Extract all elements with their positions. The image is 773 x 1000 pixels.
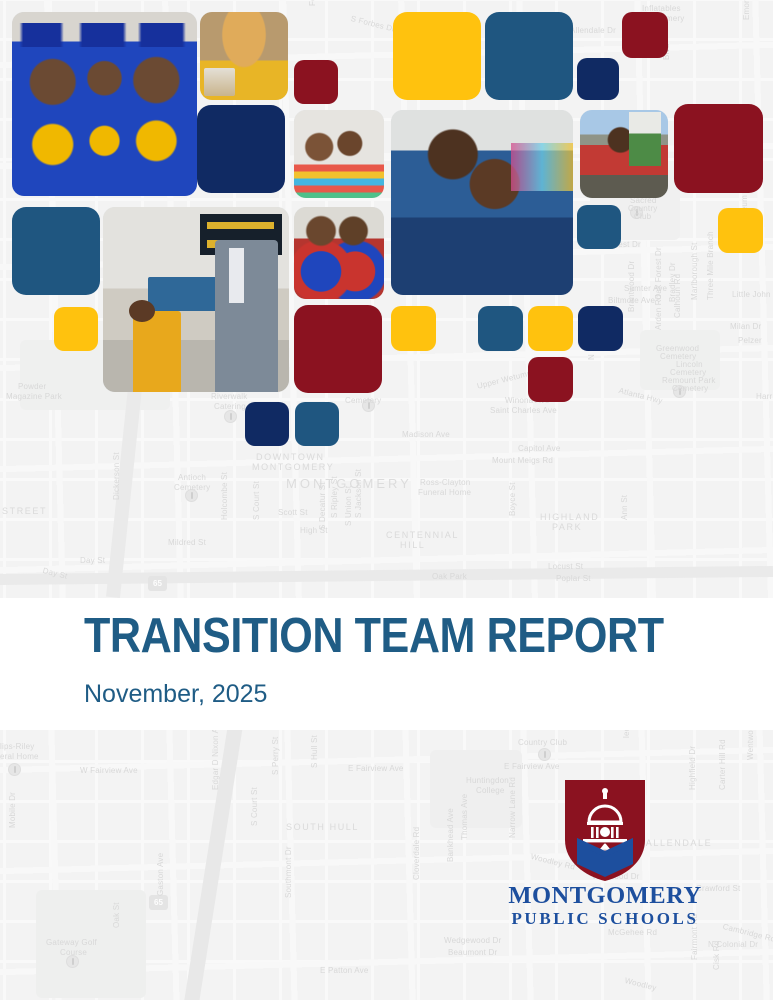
shield-icon [563,778,647,883]
map-label: S Hull St [310,735,319,768]
photo-cowboy-hat-boy [200,12,288,100]
map-label: Holcombe St [220,472,229,520]
map-label: Wentworth Dr [746,730,755,760]
map-poi-pin-country-club [538,748,551,761]
map-label: Day St [80,556,105,565]
map-label: Boyce St [508,482,517,516]
title-band: TRANSITION TEAM REPORT November, 2025 [0,598,773,730]
map-label: E Fairview Ave [504,762,560,771]
map-label: S Perry St [271,737,280,775]
tile-teal-4 [478,306,523,351]
tile-gold-3 [54,307,98,351]
logo-subtitle: PUBLIC SCHOOLS [500,909,710,929]
tile-maroon-2 [294,60,338,104]
map-label: Gaston Ave [156,853,165,896]
map-label: Southmont Dr [284,846,293,898]
tile-navy-3 [578,306,623,351]
photo-spiderman-kid [580,110,668,198]
map-label: Ross-Clayton [420,478,470,487]
map-label: S Jackson St [354,469,363,518]
map-label: Funeral Home [418,488,471,497]
map-label: Wedgewood Dr [444,936,501,945]
map-label: HILL [400,540,425,550]
tile-navy-4 [245,402,289,446]
logo-name: MONTGOMERY [500,882,710,910]
map-label: W Fairview Ave [80,766,138,775]
tile-gold-5 [528,306,573,351]
tile-teal-5 [295,402,339,446]
map-label: E Patton Ave [320,966,369,975]
map-label: Scott St [278,508,308,517]
tile-gold-4 [391,306,436,351]
map-label: Country Club [518,738,567,747]
map-interstate-shield: 65 [148,576,167,591]
map-label: Oak St [112,902,121,928]
map-label: Mildred St [168,538,206,547]
map-label: Cisk Rd [712,941,721,970]
map-poi-pin-funeral-home [8,763,21,776]
map-label: S Court St [250,787,259,826]
map-label: HIGHLAND [540,512,599,522]
photo-tiedye-kids [294,207,384,299]
map-label: Bankhead Ave [446,808,455,862]
tile-maroon-5 [528,357,573,402]
tile-maroon-4 [294,305,382,393]
map-label: lips-Riley [0,742,34,751]
map-label: ledge Dr [622,730,631,738]
report-cover-page: 65 Ferry RdS Forbes DrInflatablesMontgom… [0,0,773,1000]
map-label: S Court St [252,481,261,520]
tile-maroon-1 [622,12,668,58]
tile-teal-3 [577,205,621,249]
photo-principal-handshake [103,207,289,392]
map-label: S Union St [344,486,353,526]
map-label: Cloverdale Rd [412,827,421,880]
map-interstate-shield: 65 [149,895,168,910]
tile-navy-1 [577,58,619,100]
map-label: Edgar D Nixon Ave [211,730,220,790]
tile-navy-2 [197,105,285,193]
cover-photo-collage [0,0,773,460]
map-label: S Decatur St [318,482,327,530]
map-label: STREET [2,506,47,516]
map-label: Thomas Ave [460,794,469,840]
map-label: S Ripley St [330,476,339,518]
map-label: eral Home [0,752,39,761]
tile-teal-1 [485,12,573,100]
map-label: CENTENNIAL [386,530,459,540]
map-label: SOUTH HULL [286,822,359,832]
tile-gold-2 [718,208,763,253]
map-label: MONTGOMERY [252,462,334,472]
map-label: Cemetery [174,483,210,492]
map-label: Locust St [548,562,583,571]
map-label: Beaumont Dr [448,948,497,957]
montgomery-public-schools-logo: MONTGOMERY PUBLIC SCHOOLS [500,778,710,923]
photo-graduates [12,12,197,196]
map-label: E Fairview Ave [348,764,404,773]
tile-gold-1 [393,12,481,100]
map-label: Oak Park [432,572,467,581]
map-label: Mobile Dr [8,792,17,828]
map-label: Carter Hill Rd [718,739,727,790]
page-date: November, 2025 [84,680,267,709]
map-label: Gateway Golf [46,938,97,947]
map-label: Ann St [620,495,629,520]
map-label: Antioch [178,473,206,482]
map-label: PARK [552,522,582,532]
photo-girls-craft [294,110,384,198]
tile-maroon-3 [674,104,763,193]
map-label: Poplar St [556,574,591,583]
tile-teal-2 [12,207,100,295]
page-title: TRANSITION TEAM REPORT [84,612,664,661]
photo-two-boys-smiling [391,110,573,295]
map-poi-pin-golf [66,955,79,968]
map-label: McGehee Rd [608,928,657,937]
